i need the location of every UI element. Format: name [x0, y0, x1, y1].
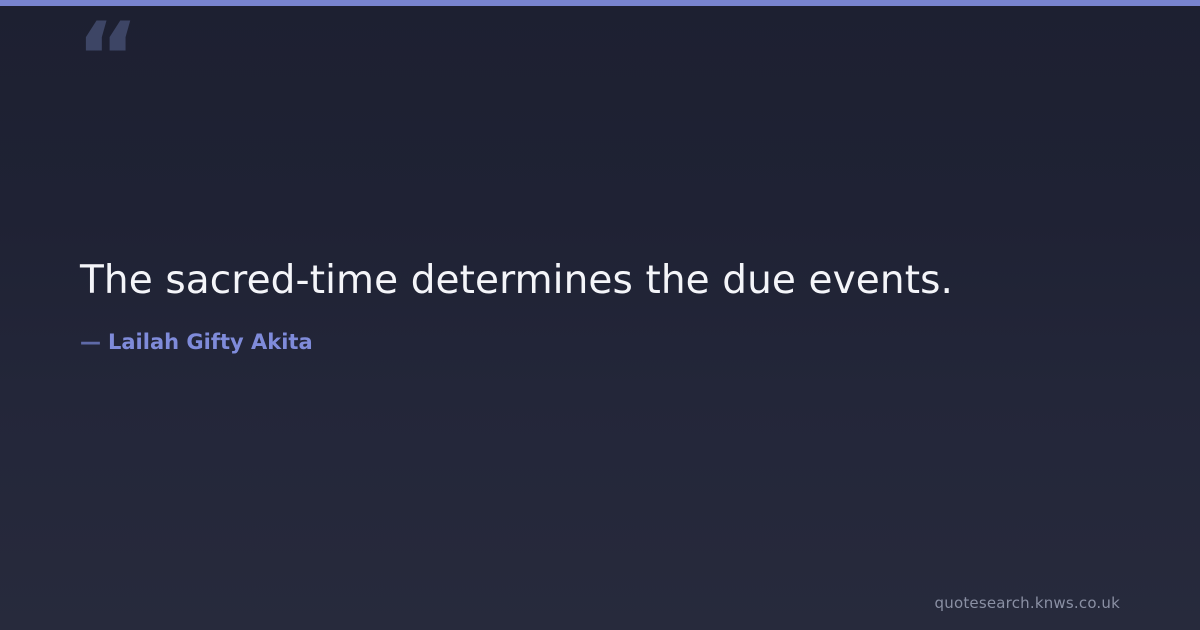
quotation-mark-icon: “ — [76, 10, 137, 106]
top-accent-bar — [0, 0, 1200, 6]
quote-text: The sacred-time determines the due event… — [80, 256, 1120, 307]
quote-author: Lailah Gifty Akita — [108, 330, 313, 354]
quote-content: The sacred-time determines the due event… — [80, 256, 1120, 355]
quote-attribution: —Lailah Gifty Akita — [80, 307, 1120, 355]
quote-card: “ The sacred-time determines the due eve… — [0, 0, 1200, 630]
attribution-dash: — — [80, 330, 101, 354]
site-watermark: quotesearch.knws.co.uk — [935, 594, 1120, 612]
